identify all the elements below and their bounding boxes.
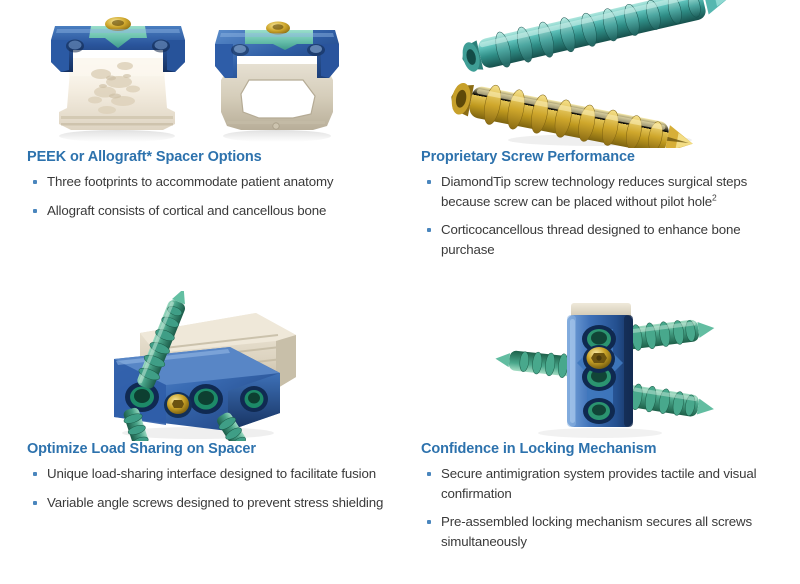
load-sharing-figure (0, 292, 400, 440)
bullet-text: DiamondTip screw technology reduces surg… (441, 174, 747, 209)
bullet-text: Allograft consists of cortical and cance… (47, 203, 326, 218)
footnote-marker: 2 (712, 192, 717, 202)
locking-mechanism-figure (400, 292, 800, 440)
feature-bullet: Secure antimigration system provides tac… (421, 464, 788, 503)
bone-screws-figure (400, 0, 800, 148)
bullet-text: Corticocancellous thread designed to enh… (441, 222, 740, 257)
load-sharing-assembly-photo (70, 291, 330, 441)
spacer-options-caption: PEEK or Allograft* Spacer Options Three … (0, 148, 400, 229)
feature-bullet: Allograft consists of cortical and cance… (27, 201, 388, 221)
feature-bullet: Pre-assembled locking mechanism secures … (421, 512, 788, 551)
locking-mechanism-photo (475, 291, 725, 441)
bullet-text: Variable angle screws designed to preven… (47, 495, 383, 510)
feature-bullet: DiamondTip screw technology reduces surg… (421, 172, 788, 211)
spacer-options-photo (35, 0, 365, 148)
peek-spacer-graphic (215, 22, 339, 143)
bullet-text: Three footprints to accommodate patient … (47, 174, 333, 189)
feature-block-spacer-options: PEEK or Allograft* Spacer Options Three … (0, 0, 400, 292)
feature-bullet: Variable angle screws designed to preven… (27, 493, 388, 513)
feature-bullet: Corticocancellous thread designed to enh… (421, 220, 788, 259)
bullet-text: Secure antimigration system provides tac… (441, 466, 756, 501)
screw-performance-caption: Proprietary Screw Performance DiamondTip… (400, 148, 800, 268)
feature-grid-page: PEEK or Allograft* Spacer Options Three … (0, 0, 800, 584)
feature-block-load-sharing: Optimize Load Sharing on Spacer Unique l… (0, 292, 400, 584)
bullet-text: Pre-assembled locking mechanism secures … (441, 514, 752, 549)
locking-mechanism-caption: Confidence in Locking Mechanism Secure a… (400, 440, 800, 560)
feature-bullet: Unique load-sharing interface designed t… (27, 464, 388, 484)
feature-bullet-list: Secure antimigration system provides tac… (421, 464, 788, 551)
feature-bullet-list: DiamondTip screw technology reduces surg… (421, 172, 788, 259)
feature-bullet-list: Three footprints to accommodate patient … (27, 172, 388, 220)
feature-heading: Confidence in Locking Mechanism (421, 440, 788, 458)
feature-block-screw-performance: Proprietary Screw Performance DiamondTip… (400, 0, 800, 292)
load-sharing-caption: Optimize Load Sharing on Spacer Unique l… (0, 440, 400, 521)
teal-screw-graphic (458, 0, 733, 77)
feature-grid: PEEK or Allograft* Spacer Options Three … (0, 0, 800, 584)
allograft-spacer-graphic (51, 17, 185, 142)
feature-bullet: Three footprints to accommodate patient … (27, 172, 388, 192)
green-screw-upper-right (623, 315, 715, 352)
green-screw-upper-left (494, 347, 576, 379)
implant-plate-front (567, 315, 633, 427)
feature-bullet-list: Unique load-sharing interface designed t… (27, 464, 388, 512)
spacer-options-figure (0, 0, 400, 148)
bone-screws-photo (430, 0, 770, 148)
feature-heading: Proprietary Screw Performance (421, 148, 788, 166)
bullet-text: Unique load-sharing interface designed t… (47, 466, 376, 481)
feature-heading: PEEK or Allograft* Spacer Options (27, 148, 388, 166)
green-screw-lower-right-front (623, 382, 716, 422)
feature-heading: Optimize Load Sharing on Spacer (27, 440, 388, 458)
feature-block-locking-mechanism: Confidence in Locking Mechanism Secure a… (400, 292, 800, 584)
